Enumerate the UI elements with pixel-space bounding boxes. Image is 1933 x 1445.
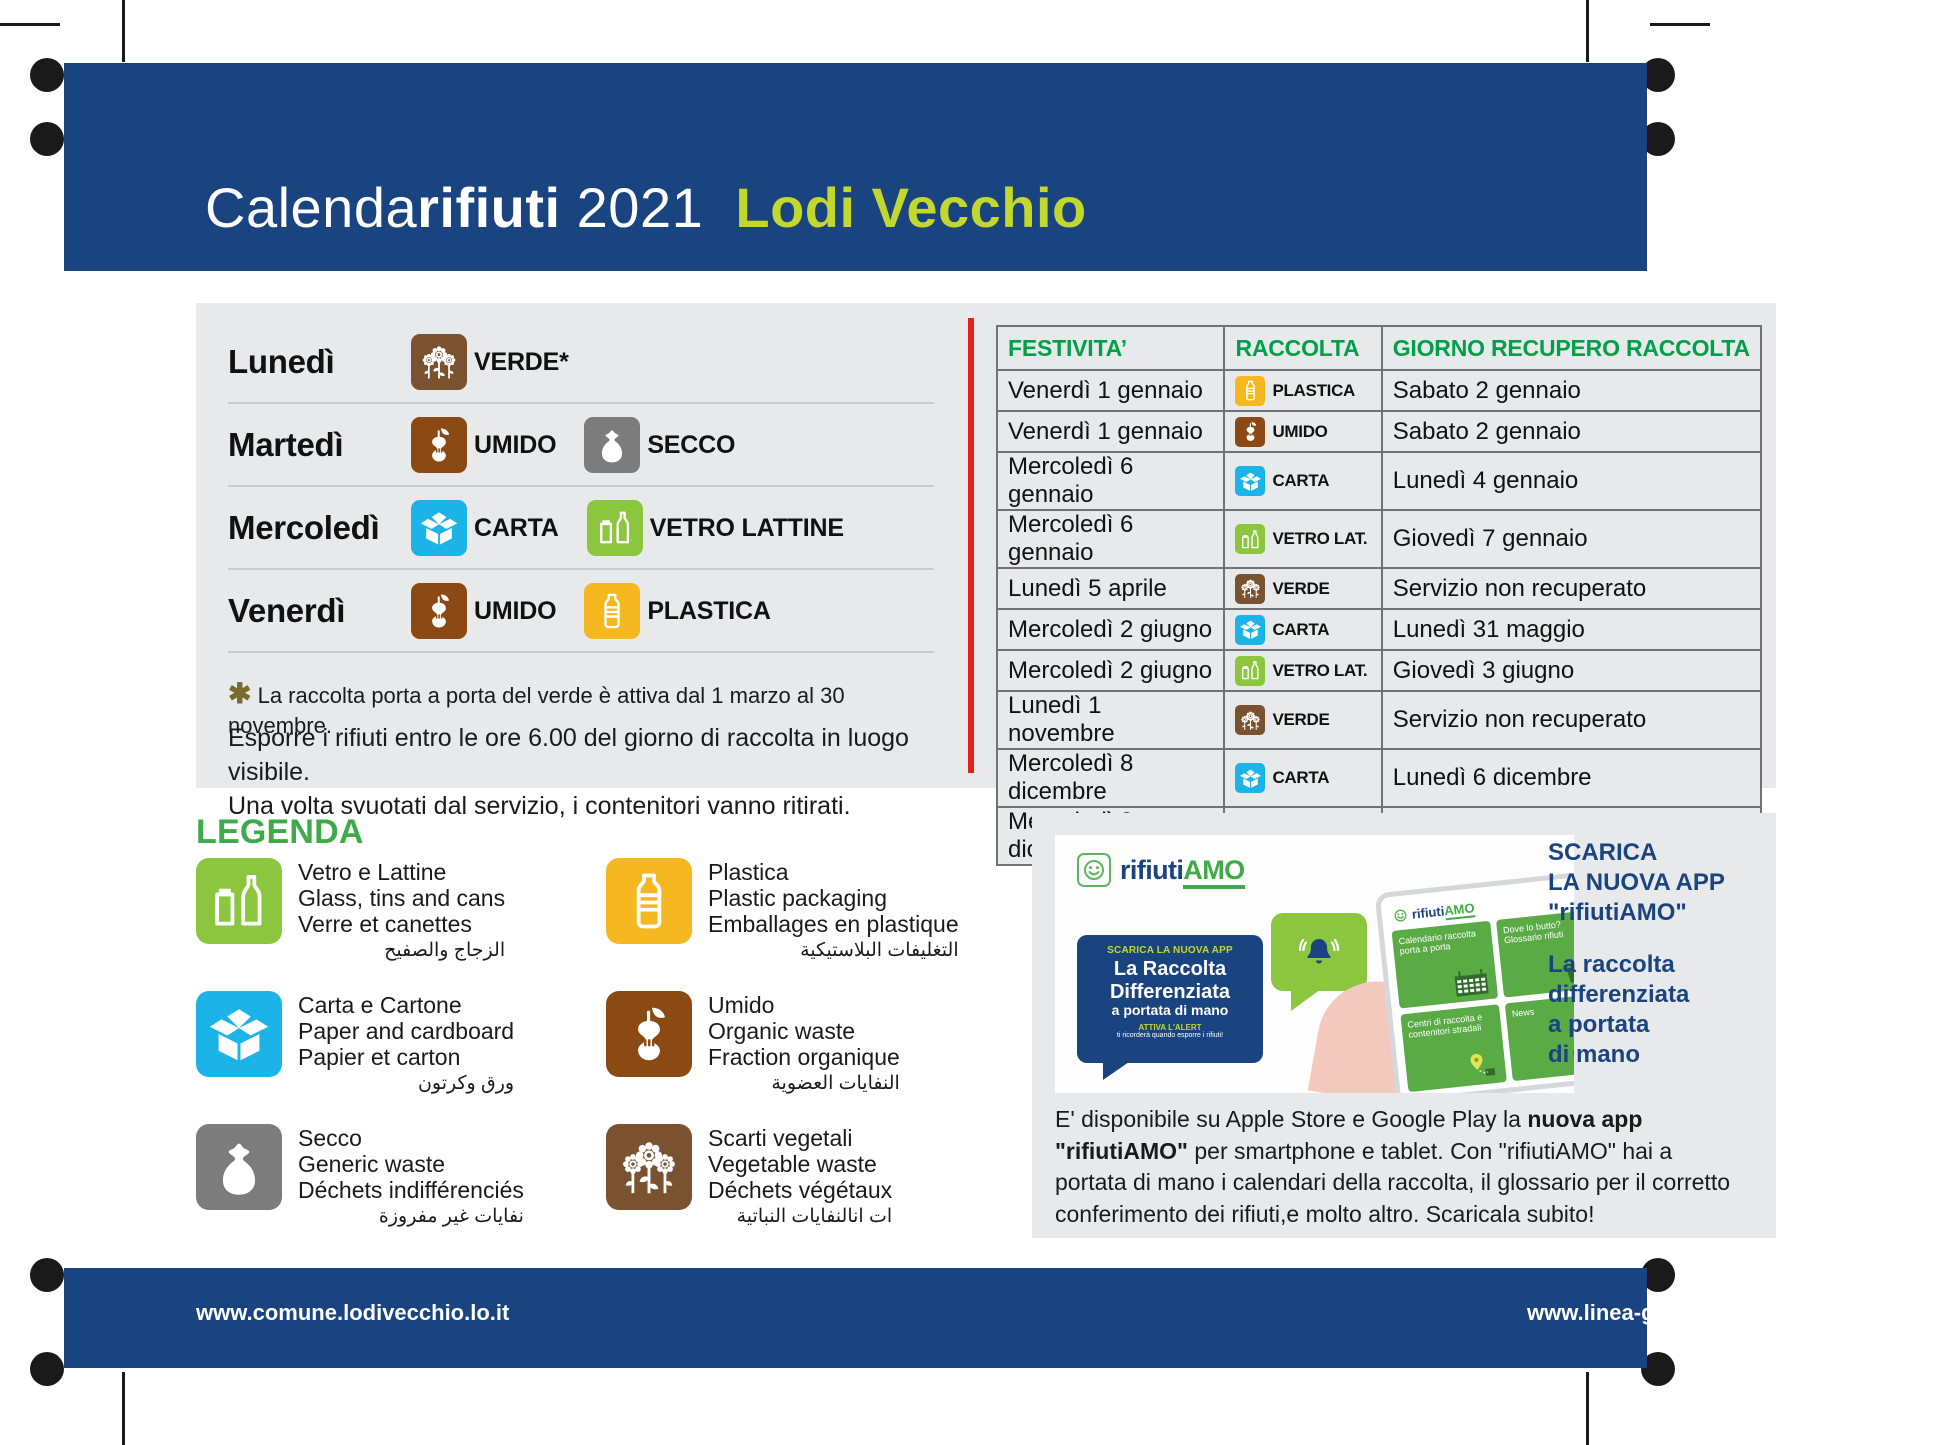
legend-label-fr: Déchets indifférenciés [298,1178,524,1204]
promo-tablet-mockup: rifiutiAMO Calendario raccolta porta a p… [1375,870,1574,1093]
carton-box-icon [411,500,467,556]
crop-mark-top-right-v [1586,0,1589,62]
legend-label-en: Vegetable waste [708,1152,892,1178]
promo-bubble-kicker: SCARICA LA NUOVA APP [1085,945,1255,956]
table-row: Lunedì 1 novembre [997,691,1761,749]
apple-core-icon [1235,417,1265,447]
exposure-note-line1: Esporre i rifiuti entro le ore 6.00 del … [228,722,934,790]
app-promo-image: rifiutiAMO SCARICA LA NUOVA APP La Racco… [1055,835,1574,1093]
cell-raccolta-label: UMIDO [1272,422,1327,442]
table-header-row: FESTIVITA’ RACCOLTA GIORNO RECUPERO RACC… [997,326,1761,370]
cell-festivita: Lunedì 5 aprile [997,568,1224,609]
cell-raccolta-label: CARTA [1272,471,1329,491]
apple-core-icon [606,991,692,1077]
legend-label-fr: Déchets végétaux [708,1178,892,1204]
title-calenda: Calenda [205,176,417,239]
collection-label: VERDE* [474,348,569,377]
cell-raccolta: CARTA [1224,452,1381,510]
registration-dot-bl-b [30,1352,64,1386]
table-row: Venerdì 1 gennaio UMIDO Sabato 2 gennaio [997,411,1761,452]
promo-tablet-tile-label: Centri di raccolta e contenitori stradal… [1407,1012,1483,1040]
cell-recupero: Servizio non recuperato [1382,568,1761,609]
collection-label: UMIDO [474,431,556,460]
plastic-bottle-icon [606,858,692,944]
legend-label-ar: الزجاج والصفيح [298,939,505,964]
legend-item-text: Plastica Plastic packaging Emballages en… [708,858,959,964]
table-row: Mercoledì 6 gennaio VETRO LAT. Giovedì 7… [997,510,1761,568]
collection-chip: UMIDO [411,417,556,473]
carton-box-icon [1235,615,1265,645]
bottle-can-icon [587,500,643,556]
cell-raccolta-label: VERDE [1272,579,1329,599]
promo-bubble-line3: a portata di mano [1085,1003,1255,1018]
cell-recupero: Lunedì 31 maggio [1382,609,1761,650]
title-town: Lodi Vecchio [735,176,1086,239]
collection-chip: SECCO [584,417,735,473]
weekday-name: Lunedì [228,343,411,381]
collection-label: CARTA [474,514,559,543]
legend-label-fr: Emballages en plastique [708,912,959,938]
legend-label-en: Glass, tins and cans [298,886,505,912]
legend-item: Scarti vegetali Vegetable waste Déchets … [606,1124,1016,1257]
cell-festivita: Mercoledì 2 giugno [997,609,1224,650]
crop-mark-bottom-left-v [122,1372,125,1445]
table-row: Mercoledì 2 giugno VETRO LAT. Giovedì 3 … [997,650,1761,691]
weekday-row: Martedì UMIDO SECCO [228,405,934,487]
registration-dot-bl-a [30,1258,64,1292]
app-promo-description: E' disponibile su Apple Store e Google P… [1055,1104,1755,1231]
promo-bubble-alert: ATTIVA L'ALERT [1085,1023,1255,1032]
carton-box-icon [1235,466,1265,496]
promo-tablet-tile-label: Calendario raccolta porta a porta [1398,928,1476,956]
holidays-table: FESTIVITA’ RACCOLTA GIORNO RECUPERO RACC… [996,325,1762,866]
collection-chip: CARTA [411,500,559,556]
cell-festivita: Mercoledì 6 gennaio [997,452,1224,510]
promo-tablet-tile: Calendario raccolta porta a porta [1392,921,1499,1009]
promo-desc-line3: portata di mano i calendari della raccol… [1055,1167,1755,1199]
legend-item-text: Umido Organic waste Fraction organique ا… [708,991,900,1097]
cell-raccolta-label: CARTA [1272,768,1329,788]
cell-festivita: Venerdì 1 gennaio [997,411,1224,452]
page-title: Calendarifiuti 2021 Lodi Vecchio [205,175,1087,240]
cell-raccolta-label: VETRO LAT. [1272,661,1367,681]
trash-bag-icon [584,417,640,473]
app-promo-sidetext: SCARICA LA NUOVA APP "rifiutiAMO" La rac… [1548,838,1768,1070]
promo-tablet-word1: rifiuti [1411,903,1445,921]
legend-label-ar: ات انالنفايات النباتية [708,1205,892,1230]
promo-logo-text: rifiutiAMO [1120,855,1245,886]
legend-label-fr: Verre et canettes [298,912,505,938]
legend-label-en: Paper and cardboard [298,1019,514,1045]
legend-label-en: Plastic packaging [708,886,959,912]
legend-label-it: Plastica [708,860,959,886]
calendar-poster: Calendarifiuti 2021 Lodi Vecchio Lunedì [0,0,1933,1445]
cell-recupero: Giovedì 7 gennaio [1382,510,1761,568]
cell-raccolta: CARTA [1224,609,1381,650]
promo-logo-word1: rifiuti [1120,855,1183,885]
exposure-note: Esporre i rifiuti entro le ore 6.00 del … [228,722,934,823]
promo-logo-badge-icon [1077,853,1111,887]
promo-side-line1: SCARICA [1548,838,1768,868]
promo-logo: rifiutiAMO [1077,853,1245,887]
cell-recupero: Lunedì 4 gennaio [1382,452,1761,510]
cell-raccolta-label: VETRO LAT. [1272,529,1367,549]
collection-chip: VETRO LATTINE [587,500,844,556]
legend-item: Secco Generic waste Déchets indifférenci… [196,1124,606,1257]
cell-recupero: Sabato 2 gennaio [1382,370,1761,411]
cell-recupero: Lunedì 6 dicembre [1382,749,1761,807]
promo-side-line7: di mano [1548,1040,1768,1070]
collection-chip: PLASTICA [584,583,770,639]
crop-mark-top-left-v [122,0,125,62]
cell-raccolta: VERDE [1224,691,1381,749]
promo-tablet-tiles: Calendario raccolta porta a portaDove lo… [1392,910,1574,1092]
cell-festivita: Mercoledì 8 dicembre [997,749,1224,807]
legend-label-fr: Fraction organique [708,1045,900,1071]
cell-raccolta: UMIDO [1224,411,1381,452]
promo-tablet-tile: Centri di raccolta e contenitori stradal… [1400,1004,1507,1092]
registration-dot-tl-a [30,58,64,92]
legend-label-it: Vetro e Lattine [298,860,505,886]
weekday-row: Venerdì UMIDO PLASTICA [228,571,934,653]
cell-raccolta: VETRO LAT. [1224,510,1381,568]
legend-item-text: Secco Generic waste Déchets indifférenci… [298,1124,524,1230]
col-header-raccolta: RACCOLTA [1224,326,1381,370]
flowers-icon [1235,574,1265,604]
legend-label-it: Carta e Cartone [298,993,514,1019]
promo-tablet-tile-label: News [1511,1007,1534,1019]
bottle-can-icon [196,858,282,944]
promo-tablet-word2: AMO [1443,900,1475,920]
legend-item-text: Scarti vegetali Vegetable waste Déchets … [708,1124,892,1230]
weekday-name: Mercoledì [228,509,411,547]
footer-link-comune[interactable]: www.comune.lodivecchio.lo.it [196,1300,509,1326]
weekday-row: Lunedì [228,322,934,404]
table-row: Venerdì 1 gennaio PLASTICA Sabato 2 genn… [997,370,1761,411]
legend-label-en: Generic waste [298,1152,524,1178]
promo-speech-bubble: SCARICA LA NUOVA APP La Raccolta Differe… [1077,935,1263,1063]
weekday-name: Martedì [228,426,411,464]
promo-desc-1b: nuova app [1527,1106,1642,1132]
legend-item: Plastica Plastic packaging Emballages en… [606,858,1016,991]
promo-side-line4: La raccolta [1548,950,1768,980]
title-year: 2021 [561,176,704,239]
cell-raccolta: VERDE [1224,568,1381,609]
col-header-festivita: FESTIVITA’ [997,326,1224,370]
plastic-bottle-icon [1235,376,1265,406]
legend-label-it: Secco [298,1126,524,1152]
trash-bag-icon [196,1124,282,1210]
legend-title: LEGENDA [196,813,364,852]
cell-recupero: Servizio non recuperato [1382,691,1761,749]
legend-item-text: Carta e Cartone Paper and cardboard Papi… [298,991,514,1097]
legend-label-it: Scarti vegetali [708,1126,892,1152]
title-rifiuti: rifiuti [417,176,560,239]
cell-raccolta-label: PLASTICA [1272,381,1355,401]
bottle-can-icon [1235,524,1265,554]
table-row: Mercoledì 6 gennaio CARTA Lunedì 4 genna… [997,452,1761,510]
collection-chip: UMIDO [411,583,556,639]
bottle-can-icon [1235,656,1265,686]
legend-grid: Vetro e Lattine Glass, tins and cans Ver… [196,858,1016,1257]
cell-raccolta-label: VERDE [1272,710,1329,730]
cell-recupero: Sabato 2 gennaio [1382,411,1761,452]
carton-box-icon [196,991,282,1077]
collection-label: SECCO [647,431,735,460]
flowers-icon [1235,705,1265,735]
flowers-icon [606,1124,692,1210]
panel-divider [968,318,974,773]
promo-tablet-logo-text: rifiutiAMO [1411,900,1475,921]
collection-label: UMIDO [474,597,556,626]
cell-raccolta-label: CARTA [1272,620,1329,640]
promo-desc-line1: E' disponibile su Apple Store e Google P… [1055,1104,1755,1136]
legend-label-ar: ورق وكرتون [298,1072,514,1097]
table-row: Mercoledì 8 dicembre CARTA Lunedì 6 dice… [997,749,1761,807]
promo-side-line6: a portata [1548,1010,1768,1040]
collection-label: PLASTICA [647,597,770,626]
legend-label-it: Umido [708,993,900,1019]
promo-desc-line2: "rifiutiAMO" per smartphone e tablet. Co… [1055,1136,1755,1168]
cell-raccolta: PLASTICA [1224,370,1381,411]
legend-label-fr: Papier et carton [298,1045,514,1071]
promo-side-line5: differenziata [1548,980,1768,1010]
collection-label: VETRO LATTINE [650,514,844,543]
promo-desc-2b: per smartphone e tablet. Con "rifiutiAMO… [1188,1138,1672,1164]
promo-logo-word2: AMO [1183,855,1244,889]
cell-recupero: Giovedì 3 giugno [1382,650,1761,691]
promo-side-line3: "rifiutiAMO" [1548,898,1768,928]
apple-core-icon [411,583,467,639]
promo-desc-line4: conferimento dei rifiuti,e molto altro. … [1055,1199,1755,1231]
table-row: Mercoledì 2 giugno CARTA Lunedì 31 maggi… [997,609,1761,650]
holidays-table-body: Venerdì 1 gennaio PLASTICA Sabato 2 genn… [997,370,1761,865]
promo-side-line2: LA NUOVA APP [1548,868,1768,898]
table-row: Lunedì 5 aprile [997,568,1761,609]
cell-raccolta: CARTA [1224,749,1381,807]
weekday-row: Mercoledì CARTA VETRO LATTINE [228,488,934,570]
legend-label-ar: التغليفات البلاستيكية [708,939,959,964]
weekday-name: Venerdì [228,592,411,630]
apple-core-icon [411,417,467,473]
crop-mark-right-h [1650,23,1710,26]
cell-festivita: Venerdì 1 gennaio [997,370,1224,411]
legend-item: Carta e Cartone Paper and cardboard Papi… [196,991,606,1124]
promo-bubble-line1: La Raccolta [1085,959,1255,979]
promo-desc-2a: "rifiutiAMO" [1055,1138,1188,1164]
carton-box-icon [1235,763,1265,793]
cell-festivita: Lunedì 1 novembre [997,691,1224,749]
promo-bubble-line2: Differenziata [1085,982,1255,1002]
promo-desc-1a: E' disponibile su Apple Store e Google P… [1055,1106,1527,1132]
asterisk-icon: ✱ [228,678,251,709]
collection-chip: VERDE* [411,334,569,390]
legend-label-ar: النفايات العضوية [708,1072,900,1097]
legend-item-text: Vetro e Lattine Glass, tins and cans Ver… [298,858,505,964]
crop-mark-bottom-right-v [1586,1372,1589,1445]
cell-raccolta: VETRO LAT. [1224,650,1381,691]
promo-bubble-alert-sub: ti ricorderà quando esporre i rifiuti! [1085,1032,1255,1039]
cell-festivita: Mercoledì 2 giugno [997,650,1224,691]
col-header-recupero: GIORNO RECUPERO RACCOLTA [1382,326,1761,370]
flowers-icon [411,334,467,390]
legend-label-en: Organic waste [708,1019,900,1045]
registration-dot-tl-b [30,122,64,156]
plastic-bottle-icon [584,583,640,639]
crop-mark-left-h [0,23,60,26]
promo-bell-icon [1271,913,1367,991]
legend-item: Vetro e Lattine Glass, tins and cans Ver… [196,858,606,991]
cell-festivita: Mercoledì 6 gennaio [997,510,1224,568]
legend-item: Umido Organic waste Fraction organique ا… [606,991,1016,1124]
legend-label-ar: نفايات غير مفروزة [298,1205,524,1230]
footer-link-linea-gestioni[interactable]: www.linea-gestioni.it [1527,1300,1745,1326]
